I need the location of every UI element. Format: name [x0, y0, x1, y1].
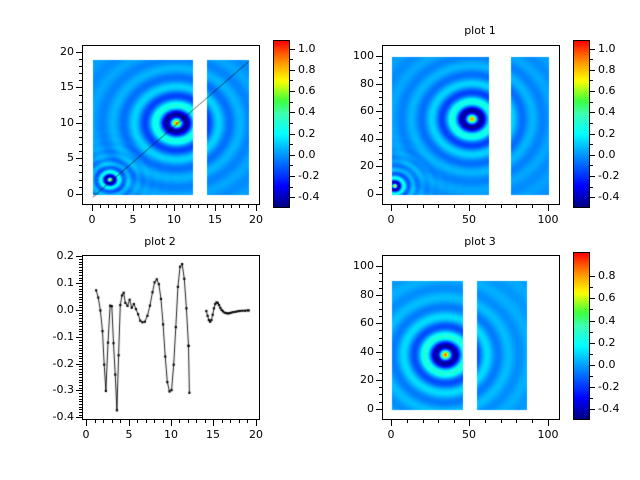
y-axis-minor-tick — [79, 345, 82, 346]
y-axis-minor-tick — [79, 80, 82, 81]
y-axis-minor-tick — [379, 173, 382, 174]
x-axis-tick — [256, 420, 257, 426]
y-axis-tick — [376, 295, 382, 296]
x-axis-minor-tick — [532, 420, 533, 423]
y-axis-minor-tick — [379, 180, 382, 181]
y-axis-minor-tick — [79, 280, 82, 281]
y-axis-tick-label: 0 — [30, 187, 74, 200]
heatmap-image — [83, 46, 260, 205]
y-axis-minor-tick — [79, 342, 82, 343]
subplot-top-right: plot 1 050100020406080100 1.00.80.60.40.… — [320, 0, 640, 240]
colorbar-gradient — [274, 41, 289, 207]
y-axis-tick-label: 0.0 — [30, 303, 74, 316]
colorbar-tick — [590, 387, 595, 388]
colorbar-tick — [290, 197, 295, 198]
x-axis-minor-tick — [149, 205, 150, 208]
x-axis-tick — [256, 205, 257, 211]
y-axis-tick — [76, 256, 82, 257]
y-axis-minor-tick — [79, 393, 82, 394]
y-axis-minor-tick — [79, 305, 82, 306]
y-axis-minor-tick — [79, 294, 82, 295]
colorbar-tick-label: 0.0 — [598, 358, 616, 371]
x-axis-tick-label: 10 — [151, 428, 191, 441]
y-axis-tick — [76, 417, 82, 418]
colorbar-tick — [590, 91, 595, 92]
y-axis-minor-tick — [379, 316, 382, 317]
plot-area — [382, 45, 560, 205]
y-axis-minor-tick — [79, 358, 82, 359]
y-axis-minor-tick — [379, 402, 382, 403]
y-axis-minor-tick — [79, 172, 82, 173]
y-axis-tick-label: 60 — [330, 316, 374, 329]
subplot-bottom-left: plot 2 051015200.20.10.0-0.1-0.2-0.3-0.4 — [0, 240, 320, 480]
x-axis-tick — [469, 420, 470, 426]
colorbar-tick-label: 0.6 — [598, 291, 616, 304]
y-axis-tick — [376, 409, 382, 410]
y-axis-minor-tick — [79, 361, 82, 362]
colorbar-minor-tick — [590, 59, 593, 60]
y-axis-tick — [76, 158, 82, 159]
y-axis-minor-tick — [79, 109, 82, 110]
colorbar-tick — [290, 155, 295, 156]
y-axis-minor-tick — [379, 302, 382, 303]
y-axis-minor-tick — [79, 59, 82, 60]
y-axis-tick-label: 40 — [330, 132, 374, 145]
heatmap-image — [383, 46, 560, 205]
colorbar-tick — [590, 343, 595, 344]
y-axis-minor-tick — [79, 264, 82, 265]
y-axis-minor-tick — [79, 353, 82, 354]
colorbar-minor-tick — [590, 376, 593, 377]
x-axis-minor-tick — [223, 205, 224, 208]
y-axis-minor-tick — [379, 281, 382, 282]
y-axis-minor-tick — [379, 366, 382, 367]
line-series — [83, 256, 260, 420]
y-axis-minor-tick — [79, 267, 82, 268]
colorbar-minor-tick — [590, 80, 593, 81]
colorbar-minor-tick — [590, 287, 593, 288]
y-axis-minor-tick — [379, 97, 382, 98]
colorbar-tick-label: 0.2 — [598, 127, 616, 140]
y-axis-minor-tick — [79, 73, 82, 74]
y-axis-tick-label: -0.1 — [30, 330, 74, 343]
y-axis-minor-tick — [379, 159, 382, 160]
y-axis-minor-tick — [379, 387, 382, 388]
colorbar-tick — [290, 70, 295, 71]
y-axis-minor-tick — [379, 309, 382, 310]
y-axis-tick-label: 0 — [330, 187, 374, 200]
y-axis-minor-tick — [79, 321, 82, 322]
y-axis-minor-tick — [79, 180, 82, 181]
y-axis-minor-tick — [79, 412, 82, 413]
y-axis-minor-tick — [379, 91, 382, 92]
y-axis-minor-tick — [79, 326, 82, 327]
colorbar-tick-label: 0.0 — [298, 148, 316, 161]
x-axis-tick — [92, 205, 93, 211]
y-axis-minor-tick — [79, 334, 82, 335]
x-axis-tick-label: 100 — [528, 428, 568, 441]
x-axis-tick — [391, 205, 392, 211]
heatmap-image — [383, 256, 560, 420]
x-axis-minor-tick — [423, 205, 424, 208]
colorbar-tick — [590, 321, 595, 322]
x-axis-minor-tick — [247, 420, 248, 423]
y-axis-minor-tick — [79, 144, 82, 145]
x-axis-minor-tick — [112, 420, 113, 423]
colorbar-tick-label: 0.4 — [598, 105, 616, 118]
x-axis-minor-tick — [188, 420, 189, 423]
x-axis-minor-tick — [125, 205, 126, 208]
x-axis-tick-label: 0 — [371, 428, 411, 441]
y-axis-minor-tick — [79, 272, 82, 273]
y-axis-minor-tick — [79, 369, 82, 370]
y-axis-minor-tick — [379, 77, 382, 78]
y-axis-tick-label: 60 — [330, 104, 374, 117]
colorbar-minor-tick — [590, 354, 593, 355]
colorbar-minor-tick — [290, 80, 293, 81]
x-axis-minor-tick — [141, 205, 142, 208]
y-axis-tick — [376, 266, 382, 267]
colorbar-tick — [590, 298, 595, 299]
y-axis-minor-tick — [79, 401, 82, 402]
y-axis-minor-tick — [79, 291, 82, 292]
colorbar-minor-tick — [590, 165, 593, 166]
colorbar-minor-tick — [590, 398, 593, 399]
y-axis-minor-tick — [79, 275, 82, 276]
y-axis-tick — [76, 310, 82, 311]
y-axis-tick-label: -0.2 — [30, 357, 74, 370]
y-axis-tick-label: 100 — [330, 259, 374, 272]
x-axis-minor-tick — [454, 420, 455, 423]
x-axis-minor-tick — [516, 420, 517, 423]
x-axis-tick-label: 0 — [66, 428, 106, 441]
x-axis-minor-tick — [485, 420, 486, 423]
x-axis-tick — [548, 420, 549, 426]
y-axis-tick — [76, 87, 82, 88]
plot-area — [82, 255, 260, 420]
colorbar — [573, 40, 590, 208]
x-axis-minor-tick — [196, 420, 197, 423]
colorbar-tick — [290, 134, 295, 135]
y-axis-tick — [376, 56, 382, 57]
y-axis-minor-tick — [79, 356, 82, 357]
x-axis-tick-label: 20 — [236, 428, 276, 441]
subplot-top-left: 0510152005101520 1.00.80.60.40.20.0-0.2-… — [0, 0, 320, 240]
x-axis-minor-tick — [501, 205, 502, 208]
y-axis-minor-tick — [79, 307, 82, 308]
y-axis-minor-tick — [379, 345, 382, 346]
colorbar-tick — [290, 112, 295, 113]
x-axis-tick — [391, 420, 392, 426]
y-axis-tick-label: 20 — [330, 373, 374, 386]
figure-canvas: 0510152005101520 1.00.80.60.40.20.0-0.2-… — [0, 0, 640, 480]
y-axis-minor-tick — [379, 153, 382, 154]
y-axis-minor-tick — [79, 278, 82, 279]
y-axis-minor-tick — [379, 132, 382, 133]
x-axis-minor-tick — [485, 205, 486, 208]
x-axis-tick — [548, 205, 549, 211]
colorbar-minor-tick — [290, 123, 293, 124]
colorbar-minor-tick — [290, 165, 293, 166]
x-axis-minor-tick — [108, 205, 109, 208]
x-axis-minor-tick — [231, 205, 232, 208]
x-axis-tick-label: 50 — [449, 428, 489, 441]
x-axis-minor-tick — [163, 420, 164, 423]
y-axis-minor-tick — [79, 323, 82, 324]
colorbar-minor-tick — [290, 102, 293, 103]
y-axis-minor-tick — [379, 338, 382, 339]
y-axis-minor-tick — [79, 415, 82, 416]
y-axis-minor-tick — [79, 102, 82, 103]
x-axis-minor-tick — [207, 205, 208, 208]
y-axis-minor-tick — [79, 366, 82, 367]
colorbar-tick-label: 0.4 — [598, 314, 616, 327]
y-axis-minor-tick — [79, 372, 82, 373]
x-axis-minor-tick — [230, 420, 231, 423]
y-axis-tick — [76, 337, 82, 338]
y-axis-tick-label: 10 — [30, 116, 74, 129]
y-axis-tick-label: 20 — [330, 159, 374, 172]
x-axis-tick-label: 20 — [236, 213, 276, 226]
y-axis-minor-tick — [79, 302, 82, 303]
colorbar-gradient — [574, 253, 589, 419]
y-axis-minor-tick — [79, 329, 82, 330]
x-axis-tick-label: 5 — [113, 213, 153, 226]
y-axis-tick-label: 80 — [330, 77, 374, 90]
x-axis-minor-tick — [137, 420, 138, 423]
x-axis-minor-tick — [103, 420, 104, 423]
x-axis-tick — [86, 420, 87, 426]
y-axis-minor-tick — [79, 315, 82, 316]
colorbar-tick-label: 0.4 — [298, 105, 316, 118]
x-axis-minor-tick — [438, 420, 439, 423]
x-axis-minor-tick — [239, 420, 240, 423]
colorbar-tick — [590, 155, 595, 156]
y-axis-tick — [76, 364, 82, 365]
colorbar-tick-label: -0.2 — [598, 380, 619, 393]
colorbar-tick — [590, 112, 595, 113]
y-axis-minor-tick — [79, 409, 82, 410]
y-axis-tick-label: 0 — [330, 402, 374, 415]
colorbar-tick-label: -0.4 — [598, 190, 619, 203]
x-axis-tick-label: 100 — [528, 213, 568, 226]
colorbar-minor-tick — [590, 309, 593, 310]
y-axis-minor-tick — [79, 313, 82, 314]
x-axis-tick — [174, 205, 175, 211]
y-axis-minor-tick — [79, 374, 82, 375]
x-axis-tick-label: 0 — [371, 213, 411, 226]
x-axis-minor-tick — [248, 205, 249, 208]
x-axis-minor-tick — [438, 205, 439, 208]
y-axis-tick-label: 100 — [330, 49, 374, 62]
colorbar-minor-tick — [290, 187, 293, 188]
x-axis-tick-label: 15 — [193, 428, 233, 441]
y-axis-tick-label: 40 — [330, 345, 374, 358]
y-axis-tick — [76, 283, 82, 284]
y-axis-minor-tick — [79, 297, 82, 298]
colorbar-tick-label: 0.8 — [598, 269, 616, 282]
y-axis-minor-tick — [379, 118, 382, 119]
x-axis-minor-tick — [222, 420, 223, 423]
y-axis-minor-tick — [79, 407, 82, 408]
colorbar-minor-tick — [590, 123, 593, 124]
x-axis-minor-tick — [407, 205, 408, 208]
colorbar-tick-label: -0.4 — [298, 190, 319, 203]
y-axis-tick — [76, 390, 82, 391]
colorbar-minor-tick — [290, 144, 293, 145]
colorbar — [573, 252, 590, 420]
y-axis-minor-tick — [79, 66, 82, 67]
colorbar-tick-label: 0.2 — [298, 127, 316, 140]
y-axis-minor-tick — [79, 377, 82, 378]
x-axis-minor-tick — [157, 205, 158, 208]
y-axis-minor-tick — [379, 63, 382, 64]
x-axis-tick-label: 10 — [154, 213, 194, 226]
y-axis-minor-tick — [79, 340, 82, 341]
x-axis-minor-tick — [95, 420, 96, 423]
colorbar-tick-label: -0.2 — [598, 169, 619, 182]
plot-area — [382, 255, 560, 420]
y-axis-tick-label: 15 — [30, 80, 74, 93]
y-axis-minor-tick — [379, 104, 382, 105]
y-axis-tick — [76, 194, 82, 195]
x-axis-minor-tick — [154, 420, 155, 423]
x-axis-minor-tick — [120, 420, 121, 423]
colorbar-tick-label: 0.8 — [298, 63, 316, 76]
y-axis-tick-label: 0.2 — [30, 249, 74, 262]
x-axis-minor-tick — [205, 420, 206, 423]
y-axis-tick — [376, 166, 382, 167]
colorbar-tick-label: 0.2 — [598, 336, 616, 349]
y-axis-minor-tick — [379, 146, 382, 147]
y-axis-minor-tick — [79, 151, 82, 152]
y-axis-minor-tick — [79, 95, 82, 96]
x-axis-minor-tick — [190, 205, 191, 208]
subplot-bottom-right: plot 3 050100020406080100 0.80.60.40.20.… — [320, 240, 640, 480]
y-axis-tick-label: 80 — [330, 288, 374, 301]
x-axis-tick — [215, 205, 216, 211]
x-axis-minor-tick — [116, 205, 117, 208]
colorbar-tick-label: 0.6 — [298, 84, 316, 97]
x-axis-tick — [129, 420, 130, 426]
y-axis-minor-tick — [79, 350, 82, 351]
x-axis-minor-tick — [100, 205, 101, 208]
y-axis-minor-tick — [79, 331, 82, 332]
x-axis-tick-label: 50 — [449, 213, 489, 226]
x-axis-minor-tick — [423, 420, 424, 423]
subplot-title: plot 2 — [0, 235, 320, 248]
colorbar-tick-label: 1.0 — [298, 42, 316, 55]
y-axis-minor-tick — [79, 137, 82, 138]
colorbar-minor-tick — [590, 332, 593, 333]
y-axis-minor-tick — [379, 288, 382, 289]
y-axis-minor-tick — [79, 380, 82, 381]
colorbar-tick — [590, 197, 595, 198]
y-axis-tick — [76, 52, 82, 53]
y-axis-minor-tick — [79, 289, 82, 290]
y-axis-minor-tick — [79, 116, 82, 117]
x-axis-minor-tick — [166, 205, 167, 208]
plot-area — [82, 45, 260, 205]
x-axis-minor-tick — [516, 205, 517, 208]
colorbar-tick — [590, 176, 595, 177]
colorbar-tick — [590, 70, 595, 71]
y-axis-minor-tick — [379, 273, 382, 274]
colorbar-tick — [290, 176, 295, 177]
y-axis-minor-tick — [79, 299, 82, 300]
y-axis-tick — [376, 139, 382, 140]
x-axis-tick-label: 0 — [72, 213, 112, 226]
x-axis-minor-tick — [407, 420, 408, 423]
colorbar-tick — [590, 365, 595, 366]
colorbar-tick-label: -0.4 — [598, 402, 619, 415]
y-axis-tick — [376, 352, 382, 353]
subplot-title: plot 1 — [320, 24, 640, 37]
colorbar-tick — [290, 49, 295, 50]
x-axis-tick — [213, 420, 214, 426]
y-axis-minor-tick — [79, 396, 82, 397]
x-axis-minor-tick — [198, 205, 199, 208]
y-axis-tick — [376, 111, 382, 112]
y-axis-minor-tick — [79, 404, 82, 405]
colorbar-tick-label: -0.2 — [298, 169, 319, 182]
x-axis-minor-tick — [454, 205, 455, 208]
colorbar-tick — [590, 276, 595, 277]
colorbar-tick — [590, 49, 595, 50]
y-axis-minor-tick — [79, 262, 82, 263]
y-axis-minor-tick — [379, 330, 382, 331]
y-axis-tick — [376, 84, 382, 85]
y-axis-minor-tick — [79, 165, 82, 166]
y-axis-tick — [376, 380, 382, 381]
y-axis-tick-label: -0.4 — [30, 410, 74, 423]
subplot-title: plot 3 — [320, 235, 640, 248]
y-axis-minor-tick — [379, 187, 382, 188]
y-axis-minor-tick — [79, 388, 82, 389]
colorbar-minor-tick — [590, 144, 593, 145]
colorbar-tick — [590, 134, 595, 135]
colorbar-tick-label: 0.6 — [598, 84, 616, 97]
colorbar-tick — [290, 91, 295, 92]
y-axis-minor-tick — [379, 373, 382, 374]
x-axis-minor-tick — [532, 205, 533, 208]
x-axis-tick — [469, 205, 470, 211]
colorbar-gradient — [574, 41, 589, 207]
y-axis-minor-tick — [79, 348, 82, 349]
x-axis-minor-tick — [146, 420, 147, 423]
y-axis-tick-label: -0.3 — [30, 383, 74, 396]
y-axis-minor-tick — [379, 394, 382, 395]
colorbar-tick-label: 0.0 — [598, 148, 616, 161]
x-axis-tick-label: 5 — [109, 428, 149, 441]
x-axis-minor-tick — [501, 420, 502, 423]
colorbar — [273, 40, 290, 208]
y-axis-minor-tick — [79, 259, 82, 260]
y-axis-minor-tick — [379, 359, 382, 360]
x-axis-minor-tick — [182, 205, 183, 208]
colorbar-minor-tick — [590, 102, 593, 103]
x-axis-tick — [133, 205, 134, 211]
y-axis-minor-tick — [79, 382, 82, 383]
colorbar-tick — [590, 409, 595, 410]
y-axis-minor-tick — [79, 130, 82, 131]
colorbar-minor-tick — [290, 59, 293, 60]
y-axis-minor-tick — [79, 187, 82, 188]
y-axis-tick — [376, 194, 382, 195]
y-axis-minor-tick — [379, 70, 382, 71]
y-axis-minor-tick — [79, 286, 82, 287]
x-axis-minor-tick — [239, 205, 240, 208]
